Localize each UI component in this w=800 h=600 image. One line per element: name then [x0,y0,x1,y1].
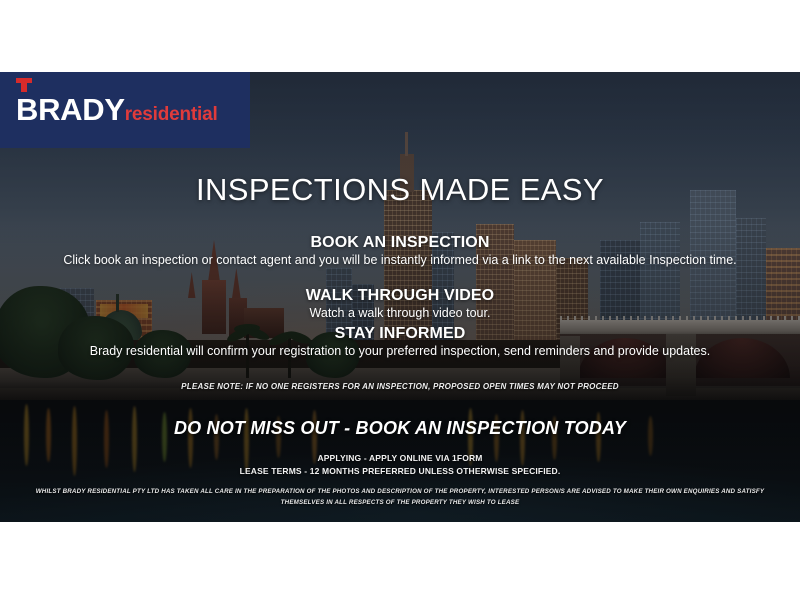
hero-banner-photo: INSPECTIONS MADE EASY BOOK AN INSPECTION… [0,72,800,522]
page-root: INSPECTIONS MADE EASY BOOK AN INSPECTION… [0,0,800,600]
please-note-text: PLEASE NOTE: IF NO ONE REGISTERS FOR AN … [0,382,800,391]
call-to-action-text: DO NOT MISS OUT - BOOK AN INSPECTION TOD… [0,418,800,439]
section-body-book-an-inspection: Click book an inspection or contact agen… [0,252,800,269]
logo-brand-text: BRADY [16,92,125,127]
section-heading-stay-informed: STAY INFORMED [0,325,800,343]
section-heading-book-an-inspection: BOOK AN INSPECTION [0,234,800,252]
apply-line-2: LEASE TERMS - 12 MONTHS PREFERRED UNLESS… [0,465,800,478]
logo-suffix-text: residential [125,104,218,125]
section-body-walk-through-video: Watch a walk through video tour. [0,305,800,322]
apply-info-block: APPLYING - APPLY ONLINE VIA 1FORM LEASE … [0,452,800,478]
apply-line-1: APPLYING - APPLY ONLINE VIA 1FORM [0,452,800,465]
section-heading-walk-through-video: WALK THROUGH VIDEO [0,287,800,305]
logo-inner: BRADYresidential [0,94,218,126]
legal-disclaimer-text: WHILST BRADY RESIDENTIAL PTY LTD HAS TAK… [0,487,800,508]
brady-tick-icon [16,78,32,83]
section-body-stay-informed: Brady residential will confirm your regi… [0,343,800,360]
brady-residential-logo[interactable]: BRADYresidential [0,72,250,148]
page-title: INSPECTIONS MADE EASY [0,172,800,208]
